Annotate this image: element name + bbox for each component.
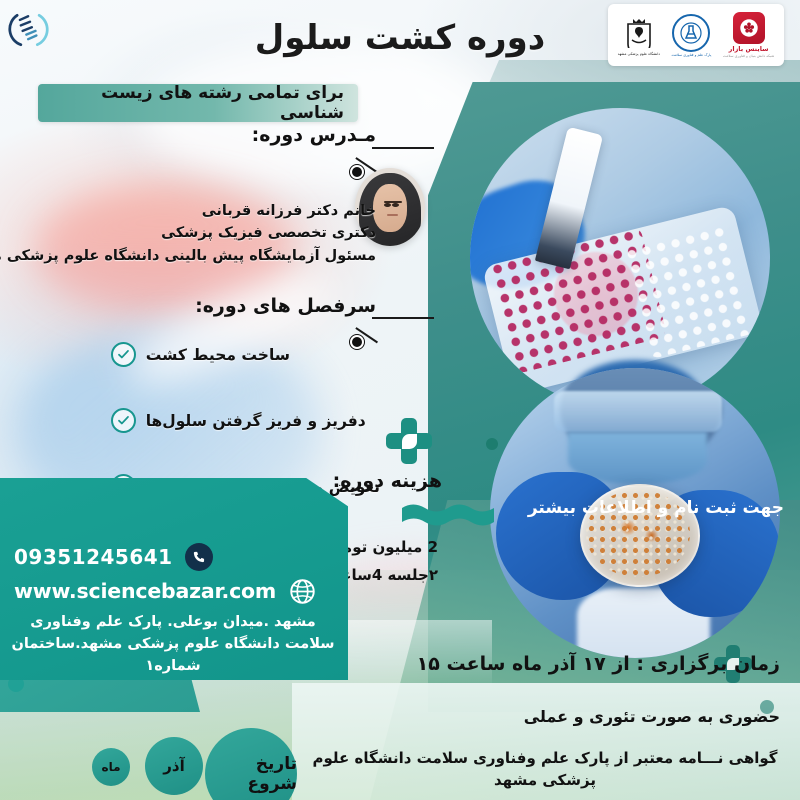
instructor-details: خانم دکتر فرزانه قربانی دکتری تخصصی فیزی… [0,200,376,267]
contact-address: مشهد .میدان بوعلی. پارک علم وفناوری سلام… [8,612,338,677]
contact-phone-number: 09351245641 [14,545,173,569]
contact-website-row[interactable]: www.sciencebazar.com [14,577,316,605]
instructor-name: خانم دکتر فرزانه قربانی [0,200,376,222]
fee-heading: هزینه دوره: [333,470,442,492]
phone-icon [185,543,213,571]
topics-heading: سرفصل های دوره: [195,295,376,317]
topic-label: ساخت محیط کشت [146,346,290,364]
check-circle-icon [111,342,136,367]
subtitle-text: برای تمامی رشته های زیست شناسی [52,83,344,123]
instructor-role: مسئول آزمایشگاه پیش بالینی دانشگاه علوم … [0,245,376,267]
globe-icon [288,577,316,605]
decor-dot-1 [486,438,498,450]
badge-month-name-label: آذر [163,757,184,775]
subtitle-banner: برای تمامی رشته های زیست شناسی [38,84,358,122]
badge-month-name: آذر [145,737,203,795]
contact-title: جهت ثبت نام و اطلاعات بیشتر [454,498,784,518]
schedule-time: زمان برگزاری : از ۱۷ آذر ماه ساعت ۱۵ [417,653,780,675]
certificate-note: گواهی نـــامه معتبر از پارک علم وفناوری … [310,748,780,792]
avatar-eye-left [384,203,391,207]
avatar-eye-right [392,203,399,207]
badge-month-word: ماه [92,748,130,786]
wellplate-photo [470,108,770,408]
badge-month-word-label: ماه [101,760,120,774]
page-title: دوره کشت سلول [0,18,800,58]
instructor-heading: مـدرس دوره: [252,124,376,146]
list-item: ساخت محیط کشت [111,342,380,367]
instructor-degree: دکتری تخصصی فیزیک پزشکی [0,222,376,244]
avatar-face [373,184,407,232]
schedule-mode: حضوری به صورت تئوری و عملی [524,707,780,726]
contact-website-url: www.sciencebazar.com [14,579,276,603]
badge-start-date-label: تاریخ شروع [205,754,297,794]
course-poster: ساینس بازار شبکه دانش بنیان و فناوری سلا… [0,0,800,800]
check-circle-icon [111,408,136,433]
list-item: دفریز و فریز گرفتن سلول‌ها [111,408,380,433]
safety-goggles-icon [554,391,722,432]
contact-phone-row[interactable]: 09351245641 [14,543,213,571]
avatar-mouth [387,214,398,216]
topic-label: دفریز و فریز گرفتن سلول‌ها [146,412,366,430]
medical-cross-icon [386,418,432,464]
